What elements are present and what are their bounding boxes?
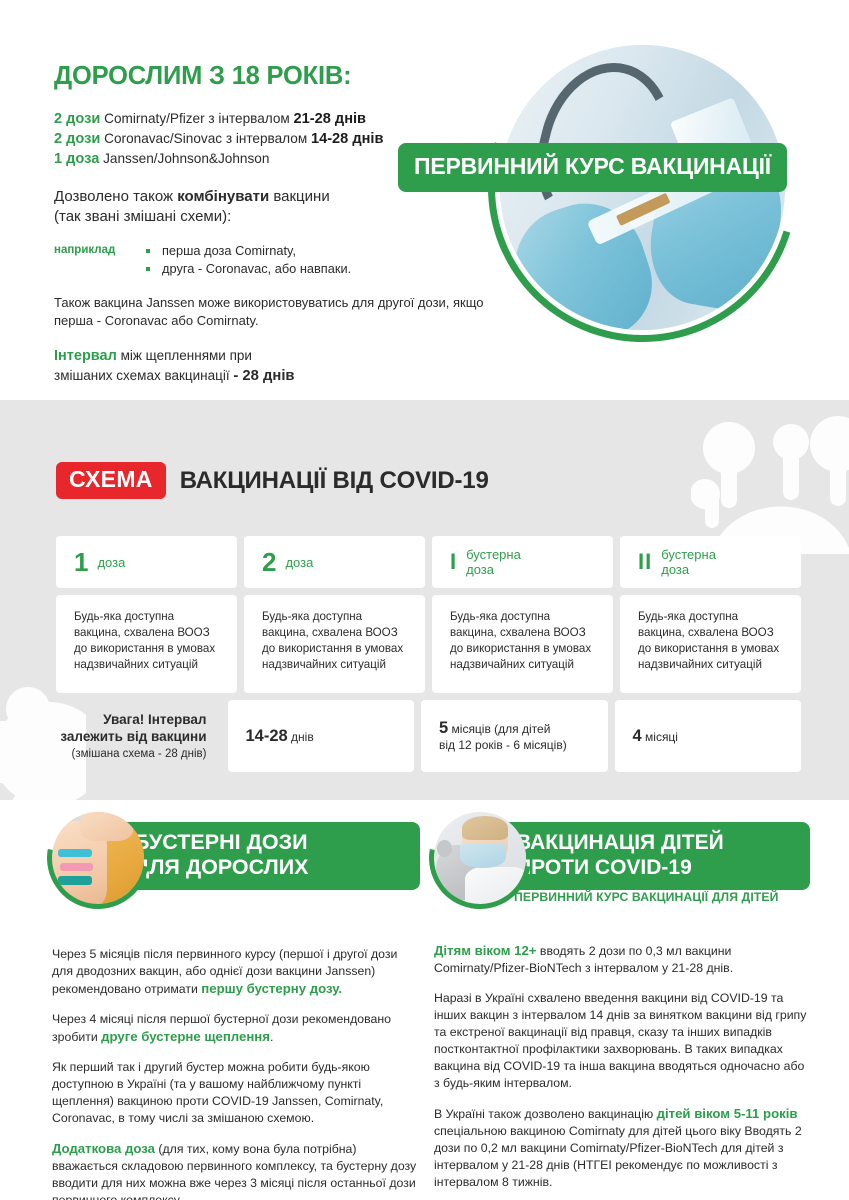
children-vaccination-column: ВАКЦИНАЦІЯ ДІТЕЙ ПРОТИ COVID-19 ПЕРВИННИ… [434,800,810,912]
booster-paragraph-3: Як перший так і другий бустер можна роби… [52,1059,420,1127]
interval-value: 4 [633,727,642,745]
table-cell-vaccine-3: Будь-яка доступна вакцина, схвалена ВООЗ… [432,595,613,693]
c3-highlight: дітей віком 5-11 років [657,1106,798,1121]
banner-line1: ВАКЦИНАЦІЯ ДІТЕЙ [516,830,796,855]
table-cell-vaccine-2: Будь-яка доступна вакцина, схвалена ВООЗ… [244,595,425,693]
table-cell-vaccine-4: Будь-яка доступна вакцина, схвалена ВООЗ… [620,595,801,693]
combine-text-c: вакцини [269,188,330,205]
banner-line1: БУСТЕРНІ ДОЗИ [134,830,406,855]
vaccination-scheme-table: 1 доза 2 доза I бустерна доза II бустерн… [56,536,801,772]
example-item: перша доза Comirnaty, [140,242,484,260]
booster-paragraph-1: Через 5 місяців після первинного курсу (… [52,946,420,998]
children-paragraph-3: В Україні також дозволено вакцинацію діт… [434,1105,810,1191]
children-subtitle: ПЕРВИННИЙ КУРС ВАКЦИНАЦІЇ ДЛЯ ДІТЕЙ [514,890,778,904]
example-item-list: перша доза Comirnaty, друга - Coronavac,… [140,242,484,278]
dose-label: бустерна доза [661,547,716,577]
booster-adults-column: БУСТЕРНІ ДОЗИ ДЛЯ ДОРОСЛИХ Через 5 місяц… [52,800,420,912]
interval-rest: між щепленнями при [117,348,252,363]
table-header-booster-2: II бустерна доза [620,536,801,588]
combine-text-line2: (так звані змішані схеми): [54,208,231,225]
banner-line2: ПРОТИ COVID-19 [516,855,796,880]
virus-decoration-icon [691,414,849,554]
example-label: наприклад [54,242,140,256]
p1-highlight: першу бустерну дозу. [201,981,342,996]
scheme-tag-badge: СХЕМА [56,462,166,499]
table-header-dose-2: 2 доза [244,536,425,588]
interval-value: - 28 днів [233,368,294,384]
booster-paragraph-2: Через 4 місяці після першої бустерної до… [52,1011,420,1046]
dose-label: доза [97,555,125,570]
dose-count: 2 дози [54,131,100,147]
primary-course-badge: ПЕРВИННИЙ КУРС ВАКЦИНАЦІЇ [398,143,787,192]
interval-unit: днів [288,730,314,744]
banner-green-arc [409,800,551,929]
dose-interval: 21-28 днів [294,111,366,127]
interval-cell-booster-1: 5 місяців (для дітей від 12 років - 6 мі… [421,700,608,772]
interval-line2: змішаних схемах вакцинації [54,368,230,383]
table-header-dose-1: 1 доза [56,536,237,588]
banner-line2: ДЛЯ ДОРОСЛИХ [134,855,406,880]
dose-vaccine: Janssen/Johnson&Johnson [103,151,269,166]
dose-vaccine: Coronavac/Sinovac з інтервалом [104,131,307,146]
p4-highlight: Додаткова доза [52,1141,155,1156]
banner-green-arc [27,800,169,929]
c3-text-a: В Україні також дозволено вакцинацію [434,1107,657,1121]
dose-line: 2 дози Comirnaty/Pfizer з інтервалом 21-… [54,109,484,129]
p2-tail: . [270,1030,273,1044]
interval-highlight: Інтервал [54,348,117,364]
children-banner: ВАКЦИНАЦІЯ ДІТЕЙ ПРОТИ COVID-19 ПЕРВИННИ… [434,800,810,912]
dose-vaccine: Comirnaty/Pfizer з інтервалом [104,111,290,126]
p2-highlight: друге бустерне щеплення [101,1029,270,1044]
dose-number: 2 [262,549,276,575]
scheme-header: СХЕМА ВАКЦИНАЦІЇ ВІД COVID-19 [56,462,489,499]
janssen-note: Також вакцина Janssen може використовува… [54,294,484,330]
dose-label-line1: бустерна [466,547,521,562]
booster-adults-banner: БУСТЕРНІ ДОЗИ ДЛЯ ДОРОСЛИХ [52,800,420,912]
combine-text-bold: комбінувати [177,188,269,205]
interval-cell-booster-2: 4 місяці [615,700,802,772]
mixed-interval-note: Інтервал між щепленнями при змішаних схе… [54,346,484,386]
table-interval-row: Увага! Інтервал залежить від вакцини (зм… [56,700,801,772]
interval-value: 14-28 [246,727,288,745]
example-block: наприклад перша доза Comirnaty, друга - … [54,242,484,278]
interval-value: 5 [439,719,448,737]
table-cell-vaccine-1: Будь-яка доступна вакцина, схвалена ВООЗ… [56,595,237,693]
scheme-title: ВАКЦИНАЦІЇ ВІД COVID-19 [180,467,489,495]
interval-text: 5 місяців (для дітей від 12 років - 6 мі… [439,720,590,753]
booster-adults-text: Через 5 місяців після первинного курсу (… [52,946,420,1200]
vaccination-scheme-section: СХЕМА ВАКЦИНАЦІЇ ВІД COVID-19 1 доза 2 д… [0,400,849,800]
interval-warning-cell: Увага! Інтервал залежить від вакцини (зм… [56,700,221,772]
dose-count: 1 доза [54,151,99,167]
adults-primary-course-section: ДОРОСЛИМ З 18 РОКІВ: 2 дози Comirnaty/Pf… [0,0,849,400]
interval-text: 4 місяці [633,728,784,745]
dose-label-line2: доза [661,562,689,577]
dose-number: II [638,549,652,575]
warning-note: (змішана схема - 28 днів) [56,747,207,762]
interval-unit: місяці [642,730,678,744]
dose-label: доза [285,555,313,570]
warning-line1: Увага! Інтервал [56,711,207,728]
children-paragraph-1: Дітям віком 12+ вводять 2 дози по 0,3 мл… [434,942,810,977]
table-body-row: Будь-яка доступна вакцина, схвалена ВООЗ… [56,595,801,693]
combine-vaccines-text: Дозволено також комбінувати вакцини (так… [54,187,484,227]
interval-cell-dose-2: 14-28 днів [228,700,415,772]
adults-title: ДОРОСЛИМ З 18 РОКІВ: [54,62,484,91]
booster-adults-title: БУСТЕРНІ ДОЗИ ДЛЯ ДОРОСЛИХ [120,822,420,890]
booster-paragraph-4: Додаткова доза (для тих, кому вона була … [52,1140,420,1200]
boosters-and-children-section: БУСТЕРНІ ДОЗИ ДЛЯ ДОРОСЛИХ Через 5 місяц… [0,800,849,1200]
adults-text-column: ДОРОСЛИМ З 18 РОКІВ: 2 дози Comirnaty/Pf… [54,62,484,386]
dose-number: 1 [74,549,88,575]
warning-line2: залежить від вакцини [56,728,207,745]
dose-count: 2 дози [54,111,100,127]
dose-label: бустерна доза [466,547,521,577]
dose-interval: 14-28 днів [311,131,383,147]
dose-number: I [450,549,457,575]
interval-text: 14-28 днів [246,728,397,745]
interval-line2: від 12 років - 6 місяців) [439,738,567,752]
example-item: друга - Coronavac, або навпаки. [140,260,484,278]
interval-unit: місяців (для дітей [448,722,550,736]
children-paragraph-2: Наразі в Україні схвалено введення вакци… [434,990,810,1092]
c3-text-b: спеціальною вакциною Comirnaty для дітей… [434,1124,802,1189]
table-header-row: 1 доза 2 доза I бустерна доза II бустерн… [56,536,801,588]
dose-label-line2: доза [466,562,494,577]
table-header-booster-1: I бустерна доза [432,536,613,588]
combine-text-a: Дозволено також [54,188,177,205]
children-text: Дітям віком 12+ вводять 2 дози по 0,3 мл… [434,942,810,1191]
children-title: ВАКЦИНАЦІЯ ДІТЕЙ ПРОТИ COVID-19 [502,822,810,890]
c1-highlight: Дітям віком 12+ [434,943,537,958]
dose-label-line1: бустерна [661,547,716,562]
photo-green-arc [434,0,849,396]
